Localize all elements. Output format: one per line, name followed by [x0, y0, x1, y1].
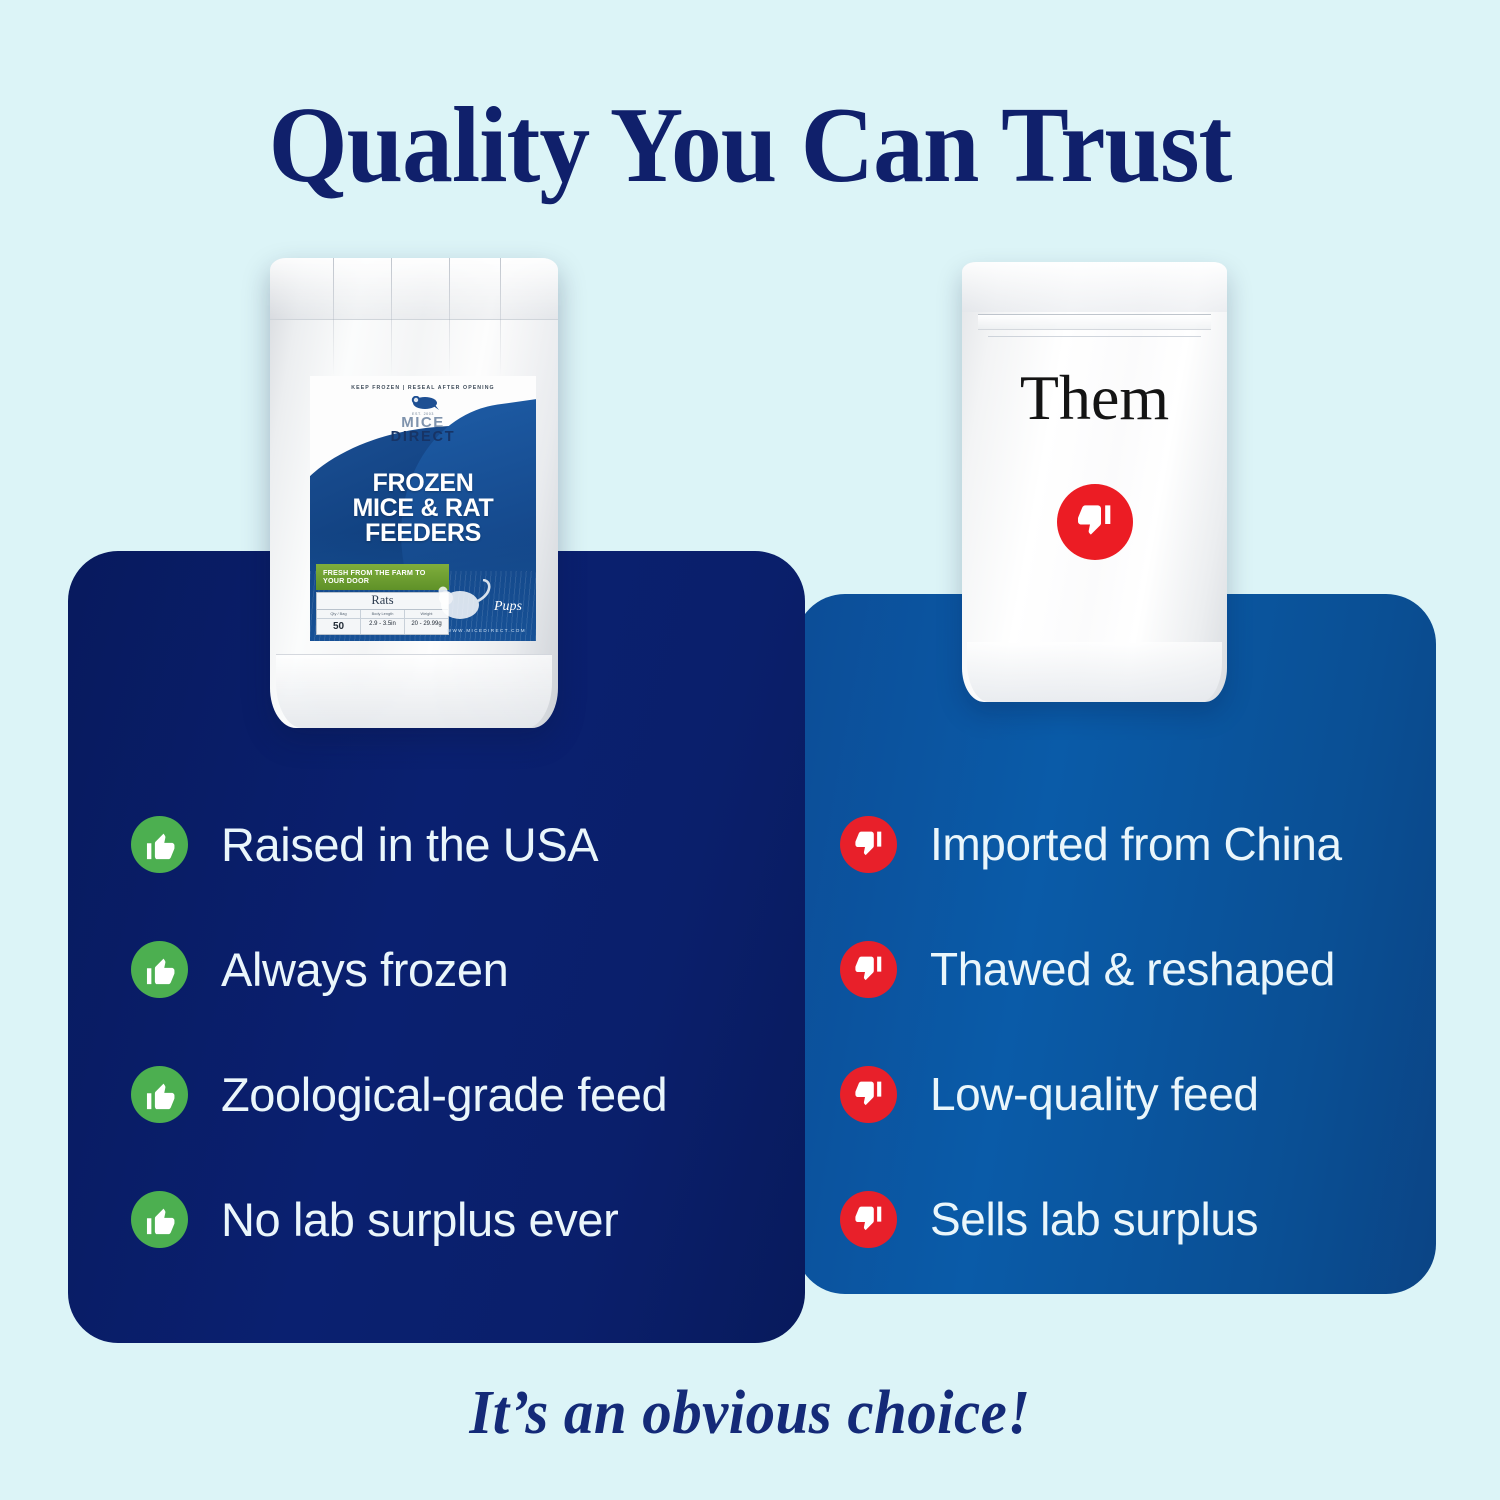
thumbs-down-icon [840, 941, 897, 998]
list-item-label: Raised in the USA [221, 820, 598, 869]
list-item-label: Always frozen [221, 945, 508, 994]
thumbs-down-glyph [1075, 502, 1115, 542]
list-item-label: Thawed & reshaped [930, 945, 1335, 993]
list-item-label: Low-quality feed [930, 1070, 1259, 1118]
list-item: Raised in the USA [131, 782, 771, 907]
bag-body: Them [962, 262, 1227, 702]
spec-table-header-row: Qty / Bag Body Length Weight [317, 610, 448, 618]
spec-table-title: Rats [317, 593, 448, 610]
thumbs-up-glyph [143, 1078, 177, 1112]
thumbs-up-glyph [143, 1203, 177, 1237]
thumbs-down-icon [840, 1191, 897, 1248]
mice-direct-product-bag: KEEP FROZEN | RESEAL AFTER OPENING EST. … [270, 258, 558, 728]
bag-storage-note: KEEP FROZEN | RESEAL AFTER OPENING [310, 385, 536, 391]
mouse-silhouette-icon [436, 579, 494, 623]
bag-crease [500, 258, 501, 376]
thumbs-down-glyph [853, 954, 885, 986]
mice-direct-benefits-list: Raised in the USA Always frozen Zoologic… [131, 782, 771, 1282]
list-item: Zoological-grade feed [131, 1032, 771, 1157]
bag-bottom-gusset [276, 654, 552, 728]
thumbs-up-icon [131, 1191, 188, 1248]
bag-top-fold [962, 262, 1227, 312]
spec-value-cell: 50 [317, 619, 361, 634]
thumbs-down-icon [840, 1066, 897, 1123]
list-item-label: Imported from China [930, 820, 1342, 868]
page-title: Quality You Can Trust [45, 92, 1455, 200]
mouse-logo-icon [406, 396, 440, 411]
bag-crease [449, 258, 450, 376]
bag-zipper [978, 314, 1211, 330]
bag-title-line-2: MICE & RAT [310, 496, 536, 521]
spec-table-value-row: 50 2.9 - 3.5in 20 - 29.99g [317, 618, 448, 634]
bag-bottom-gusset [967, 642, 1222, 702]
bag-body: KEEP FROZEN | RESEAL AFTER OPENING EST. … [270, 258, 558, 728]
thumbs-up-icon [131, 1066, 188, 1123]
list-item: Low-quality feed [840, 1032, 1410, 1157]
closing-tagline: It’s an obvious choice! [38, 1378, 1463, 1449]
bag-crease [391, 258, 392, 376]
list-item: Sells lab surplus [840, 1157, 1410, 1282]
bag-label-face: KEEP FROZEN | RESEAL AFTER OPENING EST. … [310, 376, 536, 641]
bag-title-line-1: FROZEN [310, 471, 536, 496]
list-item-label: Zoological-grade feed [221, 1070, 667, 1119]
mice-direct-logo: EST. 2003 MICE DIRECT [310, 396, 536, 446]
competitor-product-bag: Them [962, 262, 1227, 702]
thumbs-down-icon [1057, 484, 1133, 560]
thumbs-down-glyph [853, 829, 885, 861]
bag-title-line-3: FEEDERS [310, 521, 536, 546]
thumbs-up-glyph [143, 953, 177, 987]
thumbs-up-icon [131, 941, 188, 998]
spec-value-cell: 2.9 - 3.5in [361, 619, 405, 634]
bag-top-gusset [270, 258, 558, 320]
logo-direct-word: DIRECT [310, 430, 536, 446]
bag-size-name: Pups [494, 599, 522, 615]
bag-spec-table: Rats Qty / Bag Body Length Weight 50 2.9… [316, 592, 449, 635]
competitor-drawbacks-list: Imported from China Thawed & reshaped Lo… [840, 782, 1410, 1282]
thumbs-up-glyph [143, 828, 177, 862]
thumbs-down-glyph [853, 1079, 885, 1111]
list-item: Imported from China [840, 782, 1410, 907]
competitor-brand-name: Them [962, 366, 1227, 430]
logo-mice-word: MICE [310, 415, 536, 430]
bag-website: WWW.MICEDIRECT.COM [447, 628, 526, 633]
list-item: Thawed & reshaped [840, 907, 1410, 1032]
list-item: No lab surplus ever [131, 1157, 771, 1282]
thumbs-down-icon [840, 816, 897, 873]
bag-freshness-banner: FRESH FROM THE FARM TO YOUR DOOR [316, 564, 449, 590]
list-item-label: Sells lab surplus [930, 1195, 1258, 1243]
spec-header-cell: Qty / Bag [317, 610, 361, 618]
bag-crease [333, 258, 334, 376]
bag-product-title: FROZEN MICE & RAT FEEDERS [310, 471, 536, 546]
bag-zipper-line [988, 336, 1201, 337]
thumbs-down-glyph [853, 1204, 885, 1236]
list-item-label: No lab surplus ever [221, 1195, 618, 1244]
list-item: Always frozen [131, 907, 771, 1032]
spec-header-cell: Body Length [361, 610, 405, 618]
thumbs-up-icon [131, 816, 188, 873]
